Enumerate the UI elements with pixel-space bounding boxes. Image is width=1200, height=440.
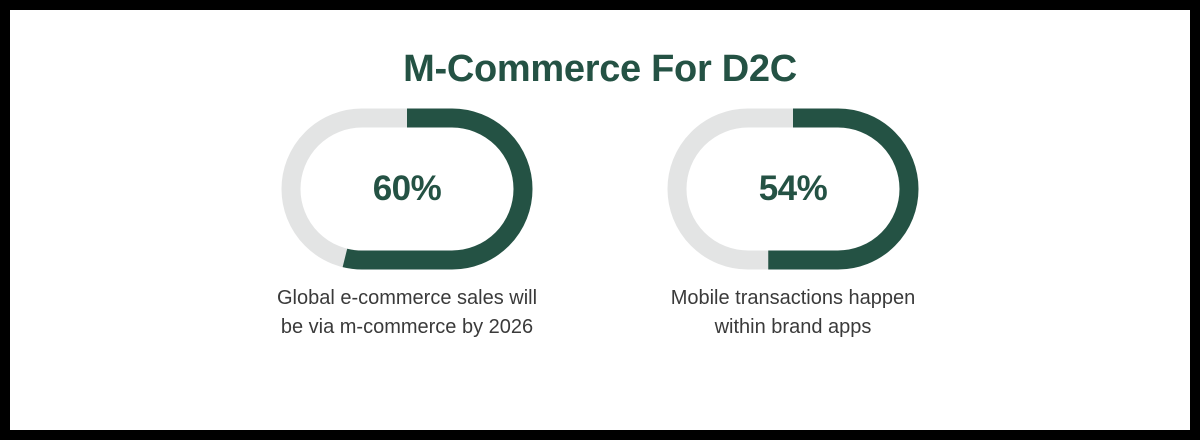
gauge-value-label: 54% <box>667 108 919 270</box>
stats-row: 60% Global e-commerce sales will be via … <box>10 108 1190 342</box>
infographic-canvas: M-Commerce For D2C 60% Global e-commerce… <box>10 10 1190 430</box>
stat-caption: Global e-commerce sales will be via m-co… <box>273 284 541 342</box>
page-title: M-Commerce For D2C <box>10 48 1190 91</box>
outer-frame: M-Commerce For D2C 60% Global e-commerce… <box>0 0 1200 440</box>
gauge-global-ecommerce-sales: 60% <box>281 108 533 270</box>
stat-caption: Mobile transactions happen within brand … <box>659 284 927 342</box>
stat-card-global-ecommerce-sales: 60% Global e-commerce sales will be via … <box>273 108 541 342</box>
stat-card-mobile-transactions: 54% Mobile transactions happen within br… <box>659 108 927 342</box>
gauge-value-label: 60% <box>281 108 533 270</box>
gauge-mobile-transactions: 54% <box>667 108 919 270</box>
